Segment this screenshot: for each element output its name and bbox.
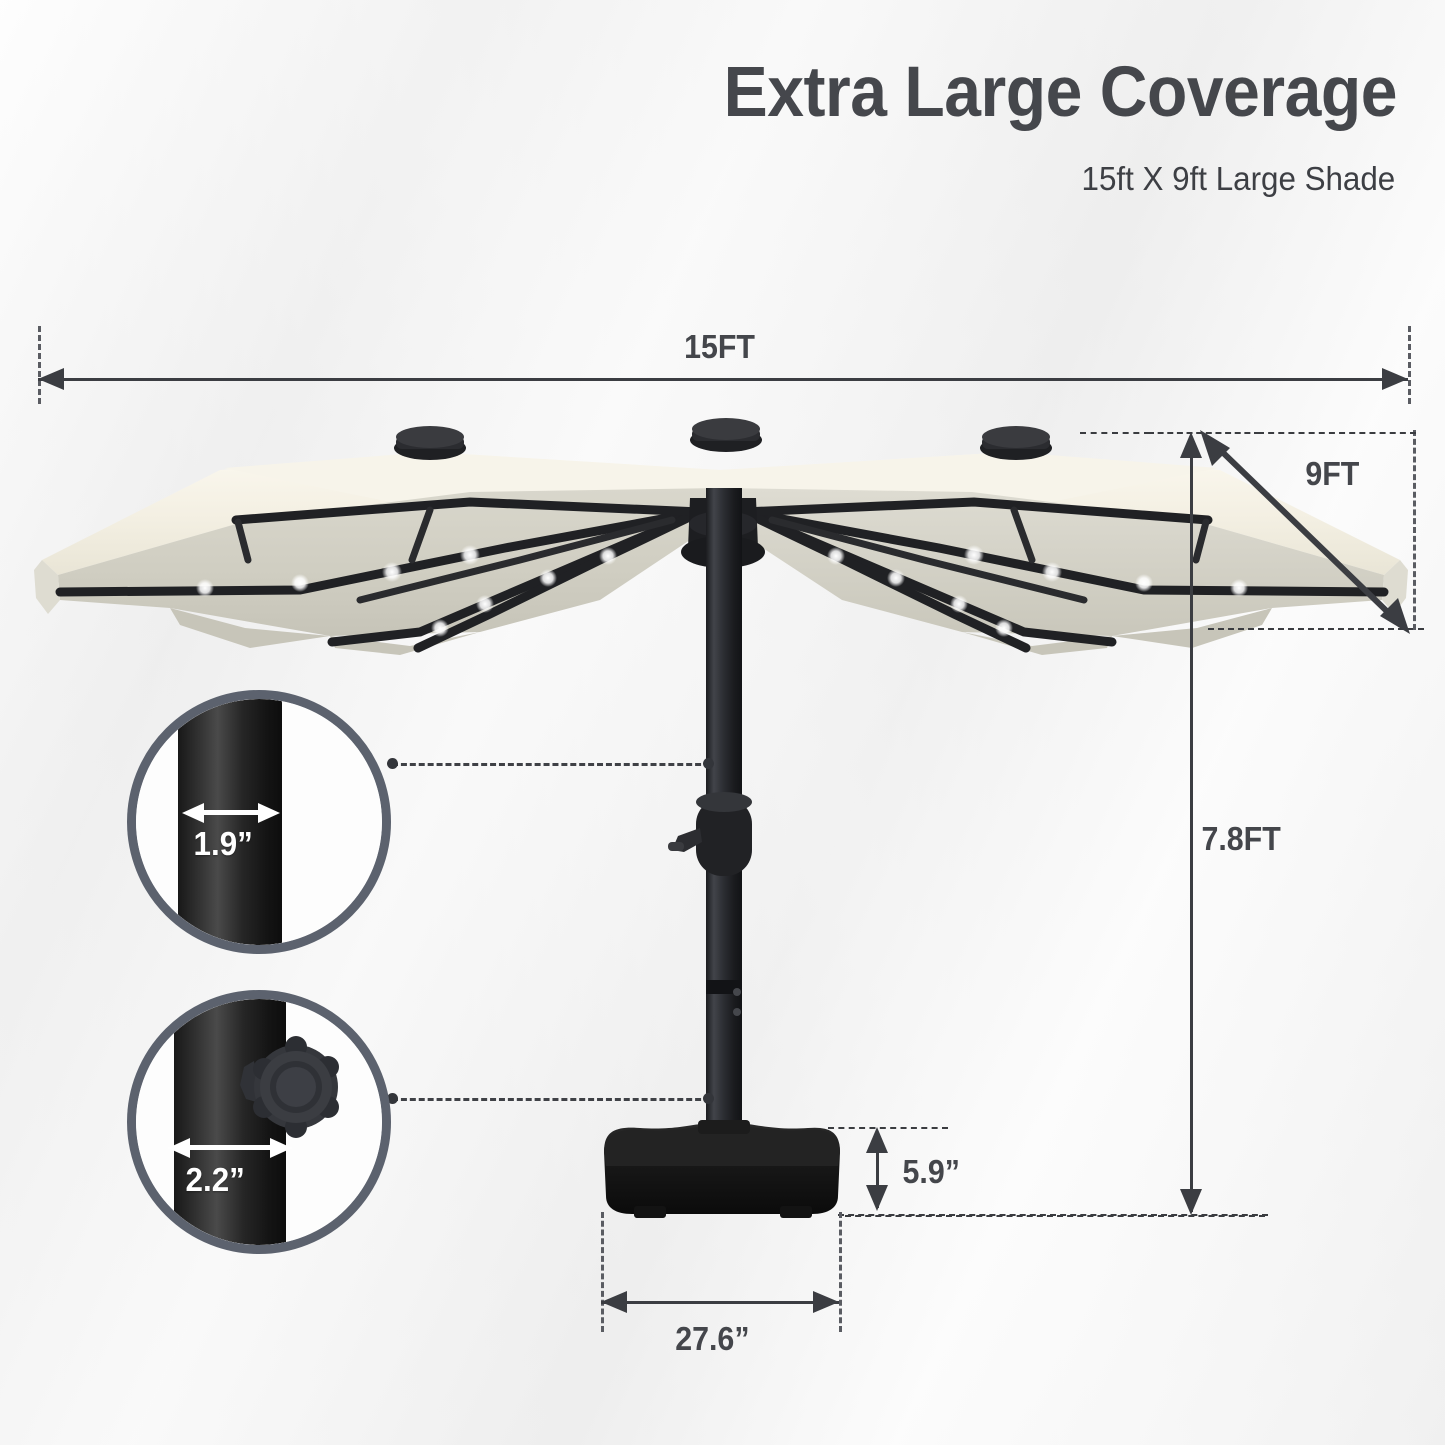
- base-height-guide-top: [828, 1127, 948, 1129]
- umbrella-base: [604, 1120, 840, 1218]
- base-height-dimension-label: 5.9”: [902, 1153, 959, 1191]
- width-dimension-line: [38, 378, 1408, 381]
- callout-1-leader-dot-right: [703, 758, 714, 769]
- dimension-guide-right: [1408, 326, 1411, 404]
- callout-pole-crank-diameter: 2.2”: [127, 990, 391, 1254]
- dimension-guide-left: [38, 326, 41, 404]
- callout-2-measure-line: [184, 1145, 274, 1150]
- base-height-arrow-top-icon: [866, 1127, 888, 1153]
- callout-2-leader-dot-right: [703, 1093, 714, 1104]
- width-arrow-right-icon: [1382, 368, 1408, 390]
- base-width-arrow-right-icon: [813, 1291, 839, 1313]
- callout-pole-diameter: 1.9”: [127, 690, 391, 954]
- callout-2-arrow-right-icon: [270, 1138, 292, 1158]
- height-guide-top: [1080, 432, 1150, 434]
- crank-knob-icon: [136, 999, 382, 1245]
- base-width-dimension-line: [601, 1301, 839, 1304]
- solar-hub: [394, 426, 466, 460]
- width-dimension-label: 15FT: [684, 328, 755, 366]
- base-width-dimension-label: 27.6”: [675, 1320, 749, 1358]
- callout-2-label: 2.2”: [186, 1161, 245, 1199]
- callout-1-arrow-left-icon: [182, 803, 204, 823]
- depth-dimension-label: 9FT: [1305, 455, 1359, 493]
- callout-2-leader-line: [392, 1098, 710, 1101]
- callout-1-measure-line: [198, 810, 262, 815]
- callout-1-leader-line: [392, 763, 710, 766]
- product-dimension-diagram: Extra Large Coverage 15ft X 9ft Large Sh…: [0, 0, 1445, 1445]
- base-height-arrow-bottom-icon: [866, 1185, 888, 1211]
- base-height-guide-bottom: [838, 1214, 1268, 1216]
- callout-1-arrow-right-icon: [258, 803, 280, 823]
- crank-mechanism: [668, 792, 752, 876]
- callout-2-inner: 2.2”: [136, 999, 382, 1245]
- solar-hub: [980, 426, 1052, 460]
- width-arrow-left-icon: [38, 368, 64, 390]
- base-width-guide-left: [601, 1212, 604, 1332]
- callout-1-inner: 1.9”: [136, 699, 382, 945]
- solar-hub: [690, 418, 762, 452]
- callout-2-arrow-left-icon: [168, 1138, 190, 1158]
- callout-1-leader-dot-left: [387, 758, 398, 769]
- base-width-guide-right: [839, 1212, 842, 1332]
- callout-1-label: 1.9”: [194, 825, 253, 863]
- height-arrow-top-icon: [1180, 432, 1202, 458]
- height-dimension-line: [1190, 440, 1193, 1212]
- base-width-arrow-left-icon: [601, 1291, 627, 1313]
- height-arrow-bottom-icon: [1180, 1189, 1202, 1215]
- height-dimension-label: 7.8FT: [1201, 820, 1280, 858]
